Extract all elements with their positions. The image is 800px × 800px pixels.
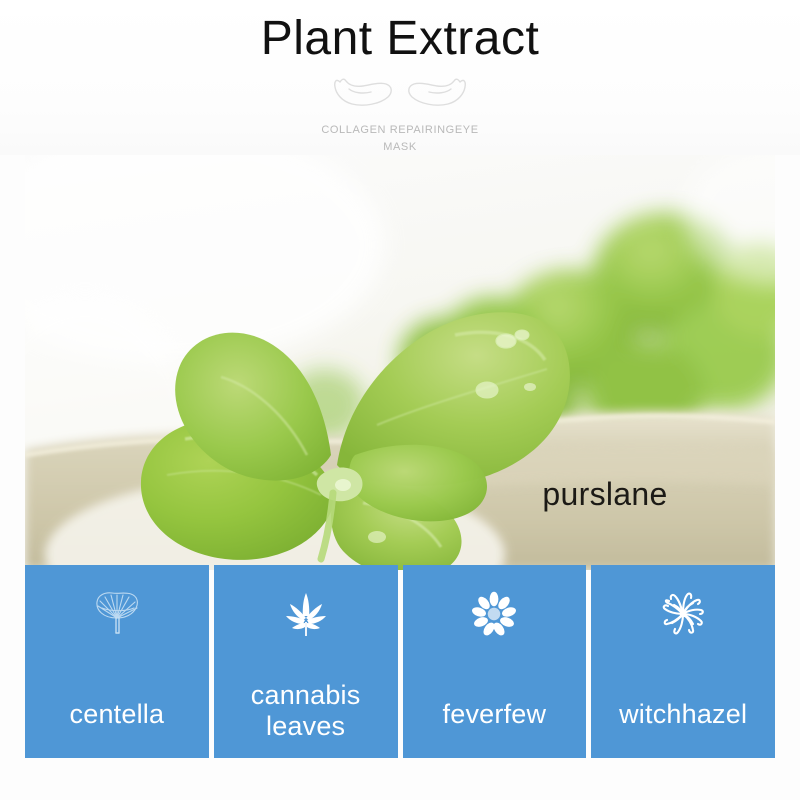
subtitle-line-2: MASK [0,139,800,156]
eye-mask-outline-icon [330,70,470,112]
subtitle-line-1: COLLAGEN REPAIRINGEYE [0,122,800,139]
tile-label-feverfew: feverfew [403,699,587,730]
tile-feverfew[interactable]: feverfew [403,565,587,758]
tile-label-witchhazel: witchhazel [591,699,775,730]
tile-label-cannabis-leaves: cannabis leaves [214,680,398,742]
ingredient-tiles: centella cannabis le [25,565,775,758]
tile-witchhazel[interactable]: witchhazel [591,565,775,758]
centella-fan-leaf-icon [90,587,144,641]
spider-chrysanthemum-icon [656,587,710,641]
tile-label-centella: centella [25,699,209,730]
purslane-caption: purslane [495,476,715,513]
product-infographic-page: Plant Extract COLLAGEN REPAIRINGEYE MASK [0,0,800,800]
subtitle-block: COLLAGEN REPAIRINGEYE MASK [0,122,800,156]
cannabis-leaf-icon [279,587,333,641]
tile-centella[interactable]: centella [25,565,209,758]
daisy-flower-icon [467,587,521,641]
page-title: Plant Extract [0,14,800,65]
tile-cannabis-leaves[interactable]: cannabis leaves [214,565,398,758]
header-section: Plant Extract COLLAGEN REPAIRINGEYE MASK [0,0,800,155]
